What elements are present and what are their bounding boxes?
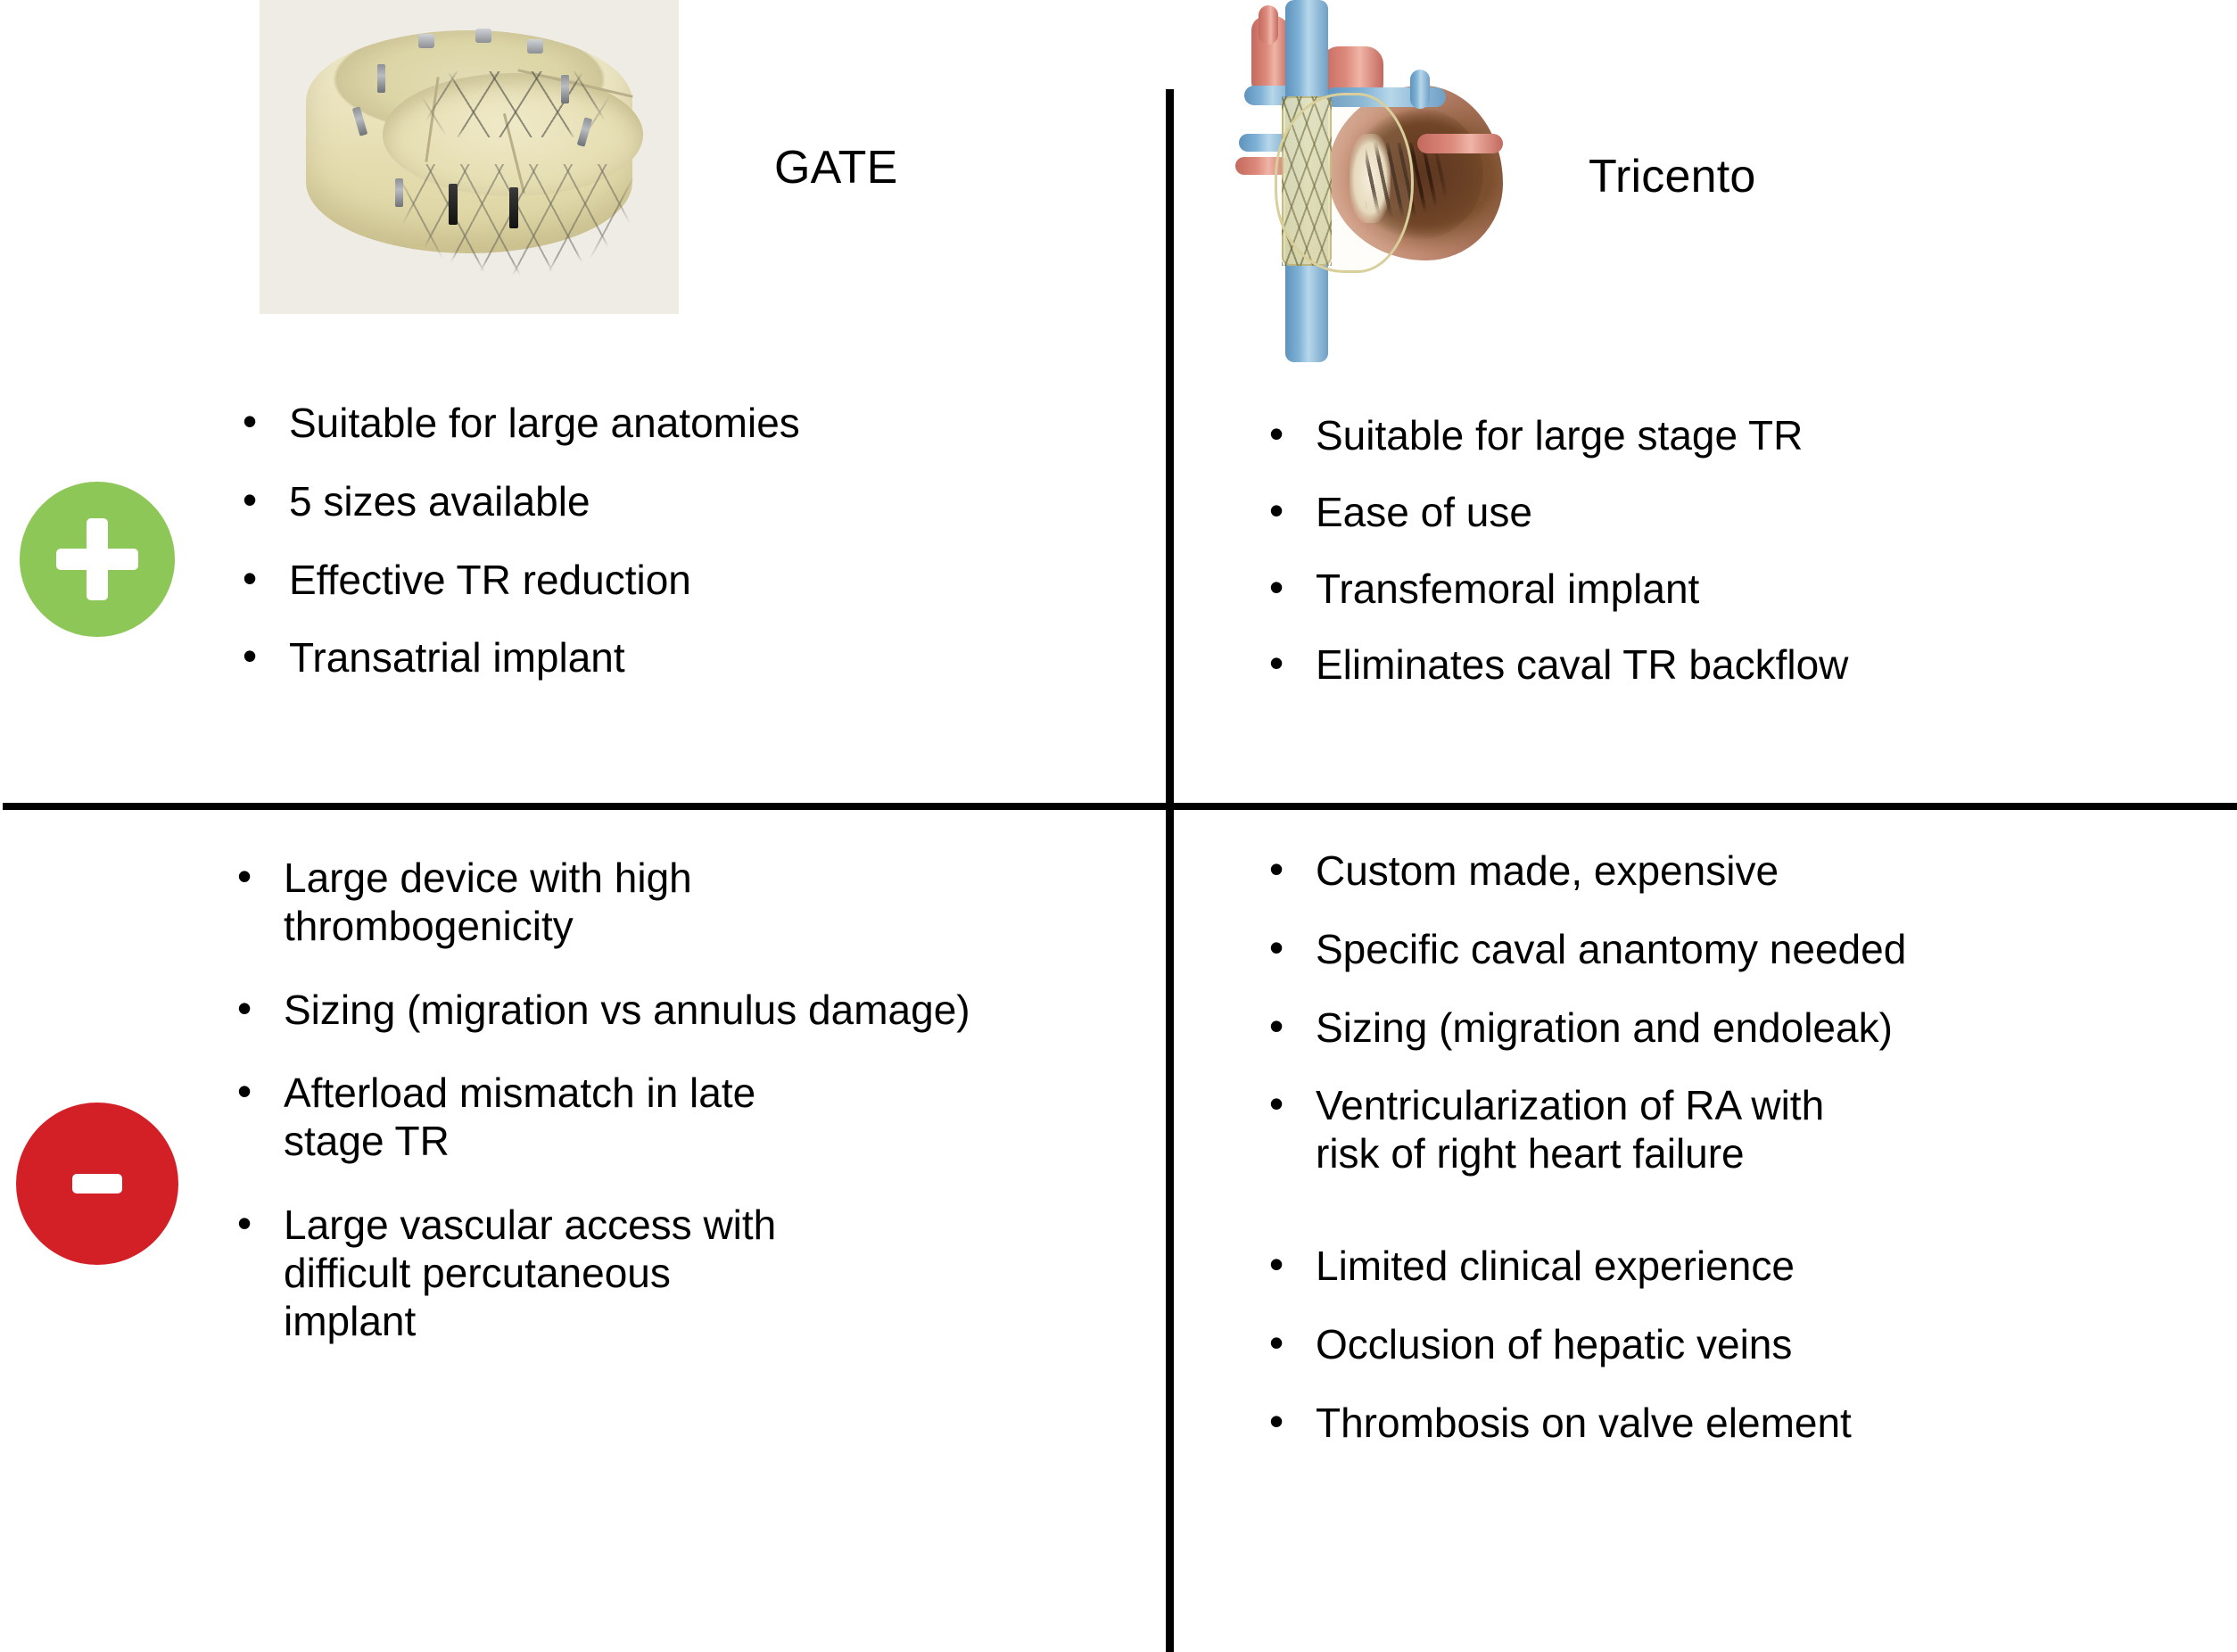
list-item: Suitable for large stage TR: [1266, 412, 2184, 460]
list-item: Suitable for large anatomies: [239, 400, 1095, 448]
list-item: Afterload mismatch in late stage TR: [234, 1070, 1126, 1166]
gate-anchor-6: [352, 106, 367, 136]
gate-anchor-dark-1: [449, 184, 458, 225]
gate-anchor-clip-3: [527, 39, 543, 54]
list-item: Ease of use: [1266, 489, 2184, 537]
gate-anchor-clip-1: [418, 34, 434, 48]
vertical-divider: [1166, 89, 1174, 1652]
list-item: Large vascular access with difficult per…: [234, 1202, 1126, 1345]
list-item: Effective TR reduction: [239, 557, 1095, 605]
gate-valve-frame: [306, 30, 632, 253]
gate-anchor-8: [395, 178, 403, 207]
tricento-valve-seal: [1275, 93, 1414, 273]
tricento-advantages-list: Suitable for large stage TR Ease of use …: [1266, 412, 2184, 718]
list-item: Sizing (migration and endoleak): [1266, 1004, 2193, 1053]
list-item: Ventricularization of RA with risk of ri…: [1266, 1082, 2193, 1178]
tricento-disadvantages-list: Custom made, expensive Specific caval an…: [1266, 847, 2193, 1478]
list-item: Eliminates caval TR backflow: [1266, 641, 2184, 690]
tricento-anatomy-illustration: [1235, 0, 1506, 362]
list-item: Specific caval anantomy needed: [1266, 926, 2193, 974]
list-item: Thrombosis on valve element: [1266, 1400, 2193, 1448]
horizontal-divider: [3, 803, 2237, 810]
gate-anchor-dark-2: [509, 187, 518, 228]
advantages-plus-badge: [20, 482, 175, 637]
list-item: Sizing (migration vs annulus damage): [234, 987, 1126, 1035]
gate-disadvantages-list: Large device with high thrombogenicity S…: [234, 855, 1126, 1382]
gate-advantages-list: Suitable for large anatomies 5 sizes ava…: [239, 400, 1095, 713]
plus-icon: [56, 518, 138, 600]
list-item: Transatrial implant: [239, 634, 1095, 682]
tricento-column-title: Tricento: [1589, 150, 1756, 203]
list-item: Transfemoral implant: [1266, 566, 2184, 614]
artery-branch-top: [1259, 5, 1278, 45]
gate-nitinol-mesh-top: [404, 71, 627, 137]
gate-anchor-4: [377, 64, 385, 93]
vein-right-branch: [1410, 70, 1430, 109]
gate-column-title: GATE: [774, 141, 898, 194]
list-item: Custom made, expensive: [1266, 847, 2193, 896]
list-item: 5 sizes available: [239, 478, 1095, 526]
list-item: Large device with high thrombogenicity: [234, 855, 1126, 951]
gate-anchor-clip-2: [475, 29, 491, 43]
list-item: Limited clinical experience: [1266, 1243, 2193, 1291]
list-item: Occlusion of hepatic veins: [1266, 1321, 2193, 1369]
gate-anchor-5: [561, 75, 569, 103]
gate-nitinol-mesh: [359, 164, 673, 298]
gate-device-photo: [260, 0, 679, 314]
minus-icon: [72, 1174, 122, 1194]
artery-right-branch: [1417, 134, 1503, 153]
disadvantages-minus-badge: [16, 1103, 178, 1265]
